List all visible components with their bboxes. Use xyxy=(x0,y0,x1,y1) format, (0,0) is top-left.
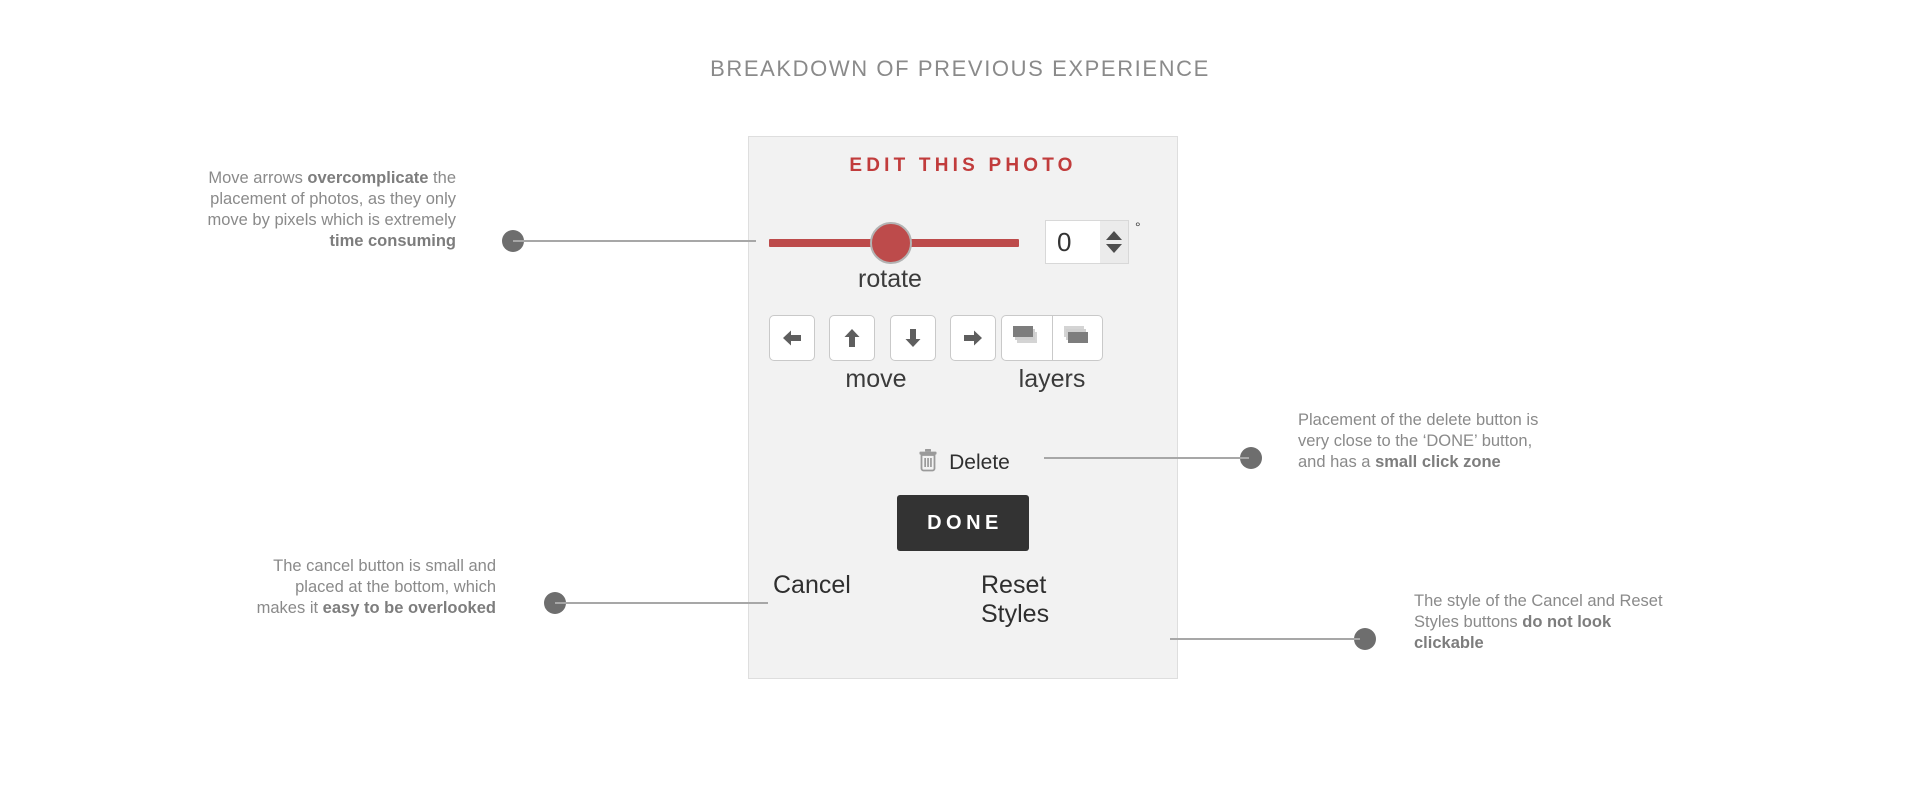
trash-icon xyxy=(916,447,940,478)
annotation-delete-placement: Placement of the delete button is very c… xyxy=(1298,410,1560,473)
annotation-move-part1: Move arrows xyxy=(208,169,307,187)
triangle-down-icon[interactable] xyxy=(1106,244,1122,253)
annotation-cancel-bold1: easy to be overlooked xyxy=(323,599,496,617)
move-label: move xyxy=(769,365,983,394)
bring-to-front-icon xyxy=(1010,322,1044,355)
move-up-button[interactable] xyxy=(829,315,875,361)
annotation-move-arrows: Move arrows overcomplicate the placement… xyxy=(196,168,456,252)
panel-title: EDIT THIS PHOTO xyxy=(749,155,1177,177)
annotation-cancel-button: The cancel button is small and placed at… xyxy=(248,556,496,619)
triangle-up-icon[interactable] xyxy=(1106,231,1122,240)
annotation-move-bold1: overcomplicate xyxy=(307,169,428,187)
annotation-line-delete xyxy=(1044,457,1249,459)
arrow-right-icon xyxy=(960,325,986,351)
send-to-back-icon xyxy=(1061,322,1095,355)
delete-label: Delete xyxy=(949,451,1010,475)
layers-label: layers xyxy=(1001,365,1103,394)
move-button-group: move xyxy=(769,315,1006,361)
rotate-number-field[interactable]: 0 xyxy=(1045,220,1129,264)
rotate-controls: 0 ° xyxy=(749,215,1177,271)
arrow-up-icon xyxy=(839,325,865,351)
edit-photo-panel: EDIT THIS PHOTO 0 ° rotate xyxy=(748,136,1178,679)
rotate-label: rotate xyxy=(749,265,1031,294)
annotation-reset-styles: The style of the Cancel and Reset Styles… xyxy=(1414,591,1666,654)
arrow-left-icon xyxy=(779,325,805,351)
bring-to-front-button[interactable] xyxy=(1001,315,1052,361)
move-and-layers-controls: move xyxy=(769,315,1159,401)
arrow-down-icon xyxy=(900,325,926,351)
layers-button-group: layers xyxy=(1001,315,1103,361)
page-title: BREAKDOWN OF PREVIOUS EXPERIENCE xyxy=(0,56,1920,82)
cancel-button[interactable]: Cancel xyxy=(773,571,851,600)
annotation-line-cancel xyxy=(555,602,768,604)
rotate-value[interactable]: 0 xyxy=(1046,221,1100,263)
rotate-slider[interactable] xyxy=(769,233,1019,253)
annotation-delete-bold1: small click zone xyxy=(1375,453,1501,471)
send-to-back-button[interactable] xyxy=(1052,315,1103,361)
move-right-button[interactable] xyxy=(950,315,996,361)
reset-styles-button[interactable]: Reset Styles xyxy=(981,571,1073,629)
slider-thumb[interactable] xyxy=(870,222,912,264)
annotation-line-move xyxy=(513,240,756,242)
rotate-spinner[interactable] xyxy=(1100,221,1128,263)
move-down-button[interactable] xyxy=(890,315,936,361)
move-left-button[interactable] xyxy=(769,315,815,361)
degree-symbol: ° xyxy=(1135,219,1141,235)
annotation-line-reset xyxy=(1170,638,1360,640)
delete-button[interactable]: Delete xyxy=(749,447,1177,478)
annotation-move-bold2: time consuming xyxy=(329,232,456,250)
done-button[interactable]: DONE xyxy=(897,495,1029,551)
